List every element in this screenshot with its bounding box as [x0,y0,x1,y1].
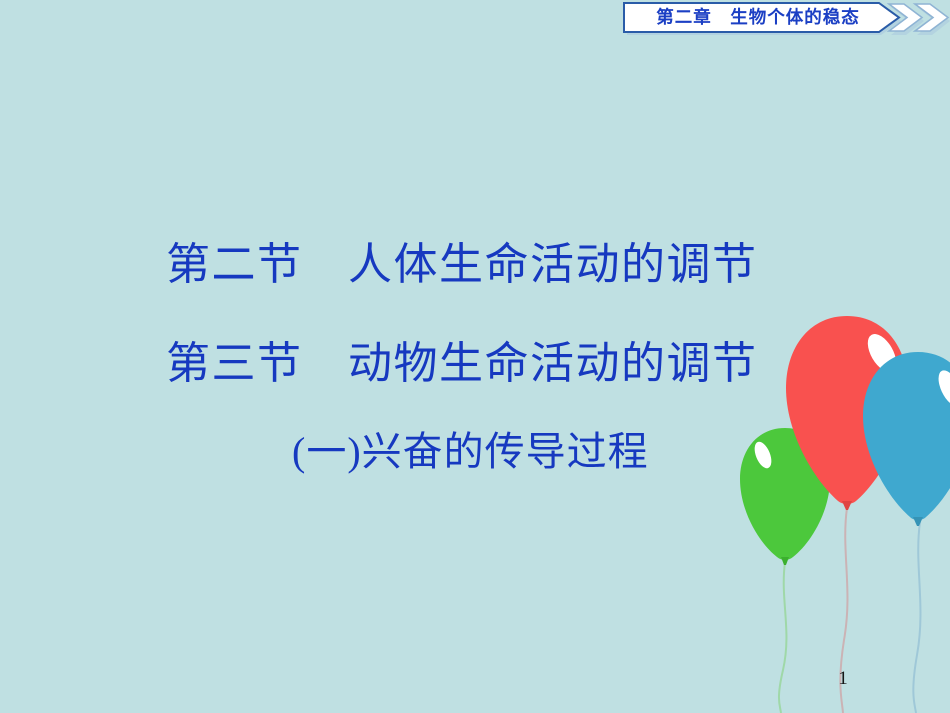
section-subtitle-line-3: (一)兴奋的传导过程 [292,432,649,472]
blue-balloon [863,352,950,526]
chapter-header-banner: 第二章 生物个体的稳态 [623,2,950,33]
page-number: 1 [828,668,858,690]
section-title-line-1: 第二节 人体生命活动的调节 [166,243,758,287]
section-title-line-2: 第三节 动物生命活动的调节 [166,342,758,386]
chapter-title-text: 第二章 生物个体的稳态 [623,2,893,33]
blue-balloon-knot [913,517,923,526]
red-balloon-knot [842,501,852,510]
blue-balloon-body [863,352,950,520]
presentation-slide: 第二章 生物个体的稳态 [0,0,950,713]
green-balloon-string [779,562,787,713]
blue-balloon-string [913,522,920,713]
green-balloon-knot [781,557,789,565]
